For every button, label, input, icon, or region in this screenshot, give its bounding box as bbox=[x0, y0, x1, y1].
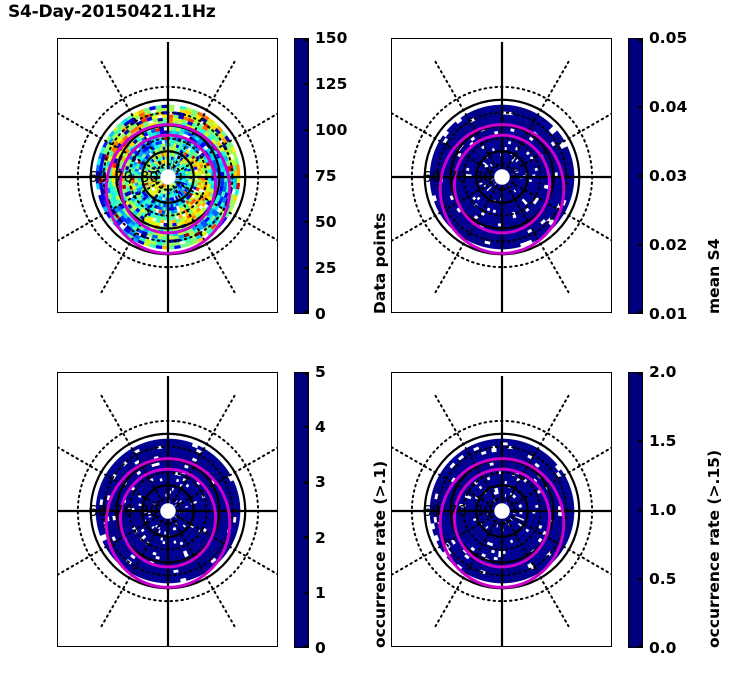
latitude-label-70: 70 bbox=[448, 168, 467, 186]
latitude-label-80: 80 bbox=[140, 502, 159, 520]
colorbar-label-2: occurrence rate (>.1) bbox=[371, 461, 389, 648]
colorbar-tickmark bbox=[638, 578, 643, 581]
colorbar-ticklabel: 1.5 bbox=[649, 432, 676, 450]
figure-canvas: S4-Day-20150421.1Hz 60708002550751001251… bbox=[0, 0, 731, 674]
colorbar-tickmark bbox=[638, 106, 643, 109]
polar-center-hole bbox=[160, 169, 175, 184]
colorbar-ticklabel: 0 bbox=[315, 639, 326, 657]
latitude-label-60: 60 bbox=[422, 168, 441, 186]
colorbar-tickmark bbox=[638, 372, 643, 375]
colorbar-ticklabel: 0.02 bbox=[649, 236, 687, 254]
colorbar-tickmark bbox=[638, 244, 643, 247]
colorbar-ticklabel: 150 bbox=[315, 29, 347, 47]
colorbar-tickmark bbox=[304, 83, 309, 86]
colorbar-tickmark bbox=[304, 645, 309, 648]
latitude-label-60: 60 bbox=[422, 502, 441, 520]
colorbar-tickmark bbox=[638, 645, 643, 648]
colorbar-ticklabel: 0.5 bbox=[649, 570, 676, 588]
colorbar-tickmark bbox=[304, 267, 309, 270]
colorbar-ticklabel: 5 bbox=[315, 363, 326, 381]
colorbar-ticklabel: 2 bbox=[315, 529, 326, 547]
latitude-label-70: 70 bbox=[114, 502, 133, 520]
colorbar-ticklabel: 0.0 bbox=[649, 639, 676, 657]
polar-center-hole bbox=[494, 169, 509, 184]
colorbar-ticklabel: 3 bbox=[315, 473, 326, 491]
latitude-label-70: 70 bbox=[448, 502, 467, 520]
latitude-label-70: 70 bbox=[114, 168, 133, 186]
colorbar-ticklabel: 125 bbox=[315, 75, 347, 93]
polar-center-hole bbox=[494, 503, 509, 518]
colorbar-tickmark bbox=[304, 426, 309, 429]
colorbar-tickmark bbox=[304, 175, 309, 178]
colorbar-tickmark bbox=[638, 311, 643, 314]
colorbar-tickmark bbox=[638, 38, 643, 41]
colorbar-ticklabel: 1 bbox=[315, 584, 326, 602]
colorbar-2 bbox=[294, 372, 309, 648]
colorbar-tickmark bbox=[304, 221, 309, 224]
colorbar-ticklabel: 0.03 bbox=[649, 167, 687, 185]
colorbar-label-1: mean S4 bbox=[705, 238, 723, 314]
latitude-label-80: 80 bbox=[140, 168, 159, 186]
colorbar-tickmark bbox=[304, 536, 309, 539]
colorbar-ticklabel: 2.0 bbox=[649, 363, 676, 381]
panel-data-points[interactable]: 607080 bbox=[57, 38, 278, 313]
latitude-label-60: 60 bbox=[88, 502, 107, 520]
colorbar-ticklabel: 4 bbox=[315, 418, 326, 436]
colorbar-label-3: occurrence rate (>.15) bbox=[705, 450, 723, 648]
colorbar-tickmark bbox=[638, 509, 643, 512]
colorbar-label-0: Data points bbox=[371, 213, 389, 314]
colorbar-ticklabel: 0.04 bbox=[649, 98, 687, 116]
colorbar-tickmark bbox=[304, 592, 309, 595]
colorbar-ticklabel: 1.0 bbox=[649, 501, 676, 519]
colorbar-tickmark bbox=[304, 481, 309, 484]
colorbar-tickmark bbox=[304, 38, 309, 41]
page-title: S4-Day-20150421.1Hz bbox=[8, 2, 216, 22]
latitude-label-80: 80 bbox=[474, 168, 493, 186]
panel-occurrence-rate-015[interactable]: 607080 bbox=[391, 372, 612, 647]
colorbar-ticklabel: 0.05 bbox=[649, 29, 687, 47]
latitude-label-80: 80 bbox=[474, 502, 493, 520]
colorbar-tickmark bbox=[638, 440, 643, 443]
colorbar-tickmark bbox=[304, 372, 309, 375]
colorbar-ticklabel: 75 bbox=[315, 167, 337, 185]
colorbar-ticklabel: 50 bbox=[315, 213, 337, 231]
colorbar-ticklabel: 100 bbox=[315, 121, 347, 139]
panel-occurrence-rate-01[interactable]: 607080 bbox=[57, 372, 278, 647]
colorbar-tickmark bbox=[304, 311, 309, 314]
colorbar-ticklabel: 25 bbox=[315, 259, 337, 277]
colorbar-tickmark bbox=[304, 129, 309, 132]
panel-mean-s4[interactable]: 607080 bbox=[391, 38, 612, 313]
colorbar-tickmark bbox=[638, 175, 643, 178]
latitude-label-60: 60 bbox=[88, 168, 107, 186]
polar-center-hole bbox=[160, 503, 175, 518]
colorbar-ticklabel: 0.01 bbox=[649, 305, 687, 323]
colorbar-ticklabel: 0 bbox=[315, 305, 326, 323]
